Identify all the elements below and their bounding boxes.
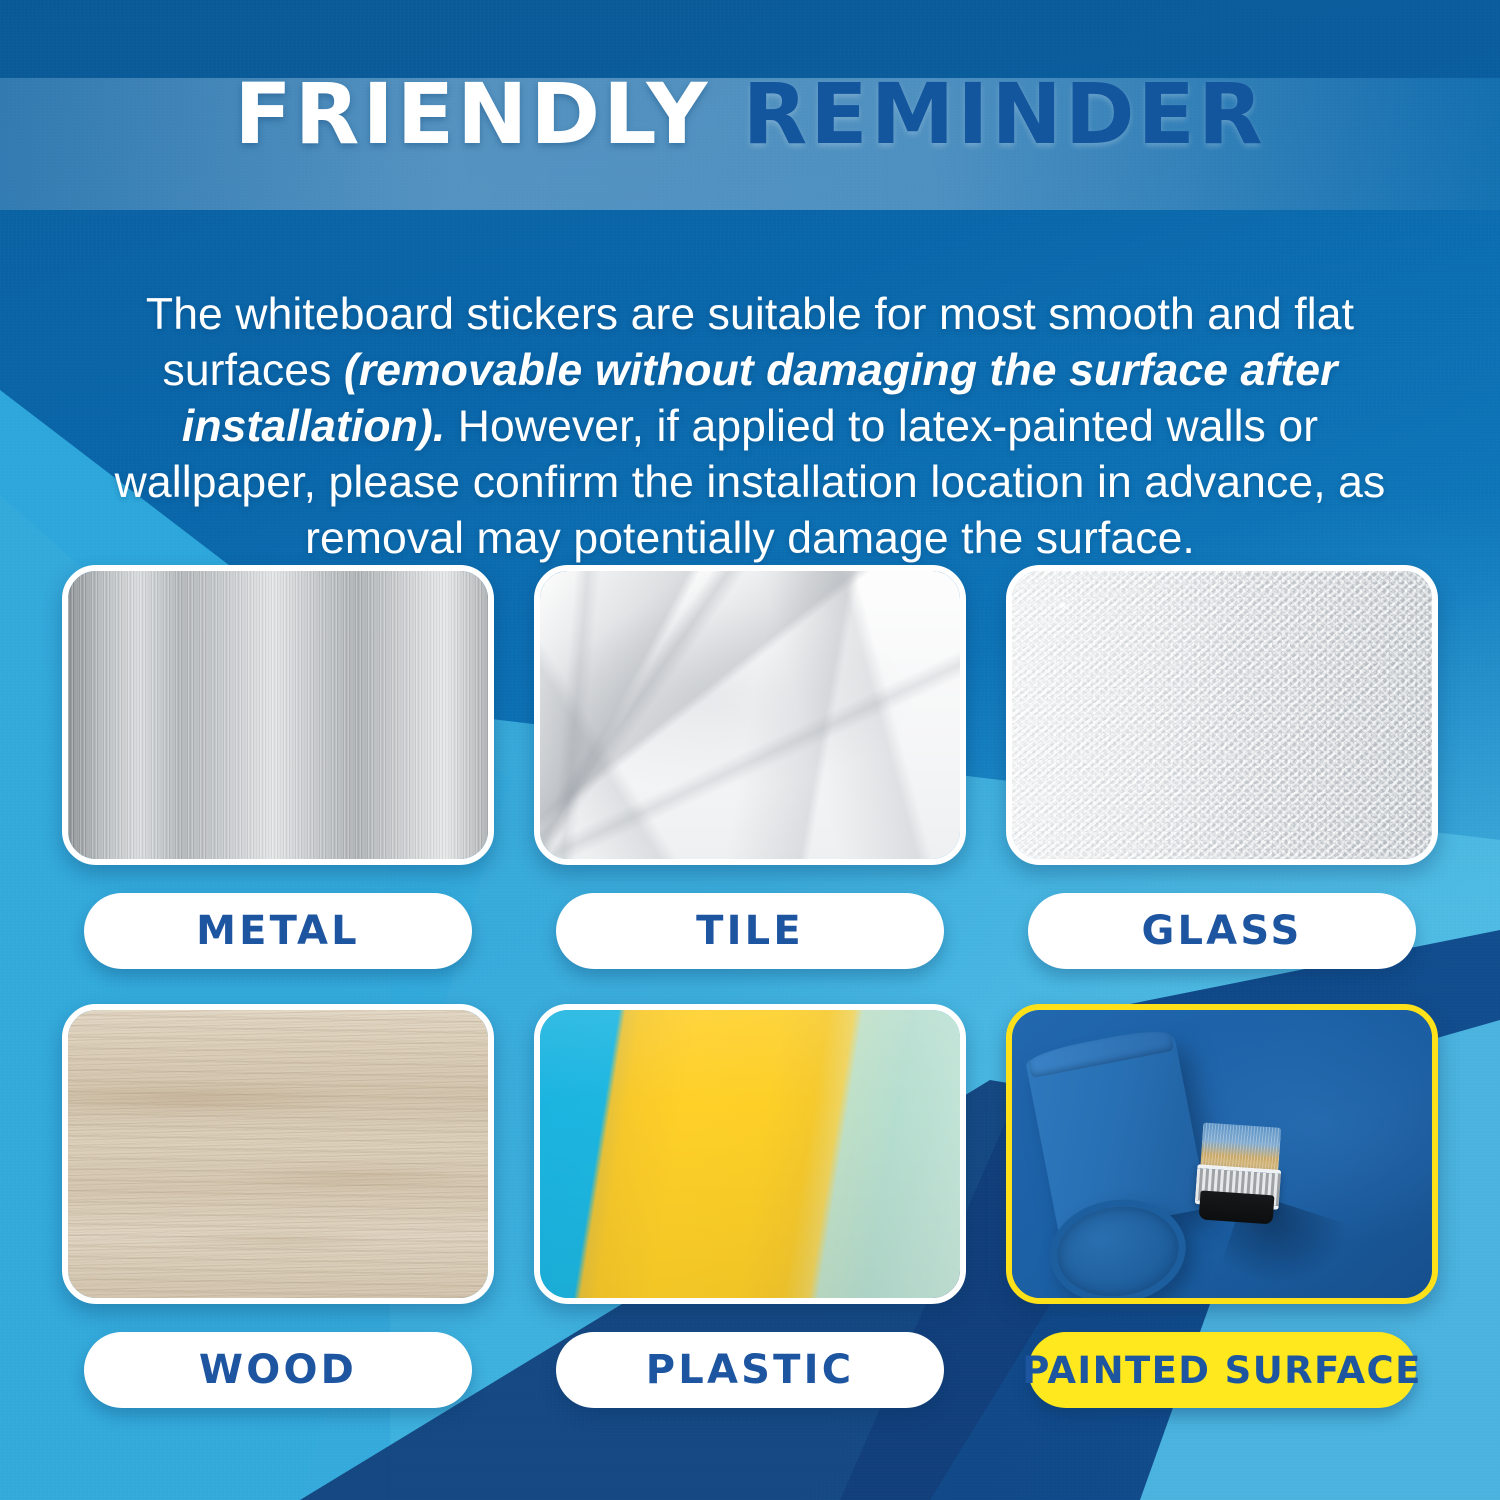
- surface-label-glass-text: GLASS: [1141, 908, 1302, 954]
- surface-label-wood[interactable]: WOOD: [84, 1332, 472, 1408]
- white-marble-texture: [540, 571, 960, 859]
- surface-card-plastic[interactable]: PLASTIC: [534, 1004, 966, 1408]
- page-title-word-1: FRIENDLY: [234, 65, 710, 163]
- surface-label-wood-text: WOOD: [199, 1347, 357, 1393]
- surface-label-glass[interactable]: GLASS: [1028, 893, 1416, 969]
- surface-label-metal[interactable]: METAL: [84, 893, 472, 969]
- surface-label-tile[interactable]: TILE: [556, 893, 944, 969]
- paint-brush-handle: [1198, 1191, 1274, 1225]
- surface-card-wood[interactable]: WOOD: [62, 1004, 494, 1408]
- surface-label-tile-text: TILE: [696, 908, 804, 954]
- page-title-word-2: REMINDER: [743, 65, 1266, 163]
- surface-card-painted-surface[interactable]: PAINTED SURFACE: [1006, 1004, 1438, 1408]
- brushed-metal-texture: [68, 571, 488, 859]
- surface-grid: METAL TILE GLASS: [0, 565, 1500, 1408]
- paint-brush-icon: [1194, 1122, 1284, 1223]
- infographic-canvas: FRIENDLY REMINDER The whiteboard sticker…: [0, 0, 1500, 1500]
- surface-card-tile[interactable]: TILE: [534, 565, 966, 969]
- surface-label-painted-surface[interactable]: PAINTED SURFACE: [1028, 1332, 1416, 1408]
- painted-wall-texture: [1012, 1010, 1432, 1298]
- frosted-glass-texture: [1012, 571, 1432, 859]
- colored-plastic-texture: [540, 1010, 960, 1298]
- glass-swatch-image: [1006, 565, 1438, 865]
- surface-grid-row-2: WOOD PLASTIC: [0, 1004, 1500, 1408]
- tile-swatch-image: [534, 565, 966, 865]
- description-paragraph: The whiteboard stickers are suitable for…: [104, 287, 1396, 567]
- light-wood-texture: [68, 1010, 488, 1298]
- metal-swatch-image: [62, 565, 494, 865]
- surface-card-glass[interactable]: GLASS: [1006, 565, 1438, 969]
- surface-label-plastic-text: PLASTIC: [646, 1347, 855, 1393]
- surface-label-metal-text: METAL: [196, 908, 360, 954]
- surface-label-plastic[interactable]: PLASTIC: [556, 1332, 944, 1408]
- page-title: FRIENDLY REMINDER: [0, 72, 1500, 156]
- surface-grid-row-1: METAL TILE GLASS: [0, 565, 1500, 969]
- painted-surface-swatch-image: [1006, 1004, 1438, 1304]
- plastic-swatch-image: [534, 1004, 966, 1304]
- wood-swatch-image: [62, 1004, 494, 1304]
- surface-card-metal[interactable]: METAL: [62, 565, 494, 969]
- surface-label-painted-surface-text: PAINTED SURFACE: [1022, 1349, 1421, 1392]
